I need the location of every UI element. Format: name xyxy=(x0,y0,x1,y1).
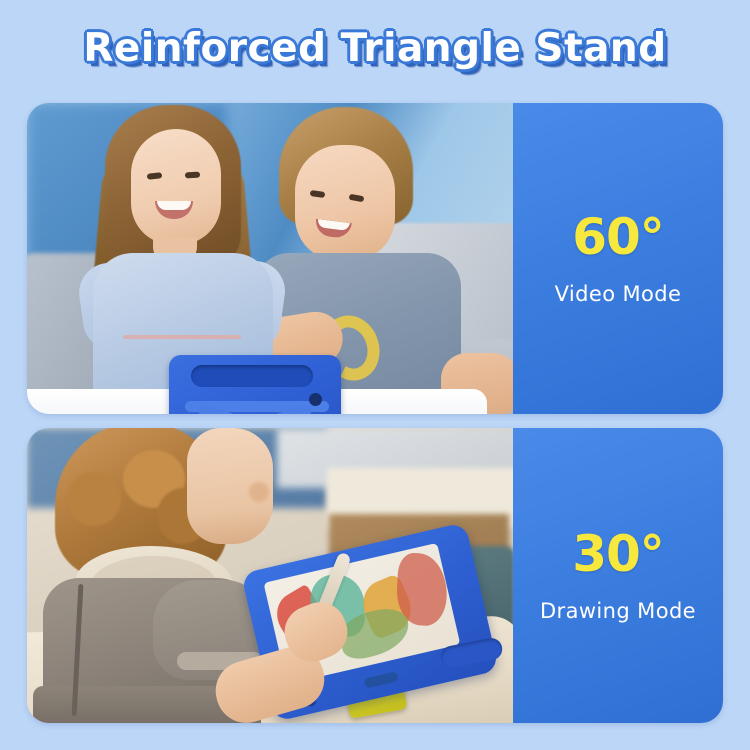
angle-panel-video-mode: 60° Video Mode xyxy=(513,103,723,414)
case-button-cutout xyxy=(364,671,399,688)
girl-dress-trim xyxy=(123,335,241,339)
feature-card-drawing-mode: 30° Drawing Mode xyxy=(27,428,723,723)
blue-tablet-case-back xyxy=(169,355,341,414)
case-carry-handle xyxy=(191,365,313,387)
product-photo-drawing-mode xyxy=(27,428,513,723)
mode-label-video: Video Mode xyxy=(555,282,682,306)
girl-right-eye xyxy=(185,172,200,179)
angle-panel-drawing-mode: 30° Drawing Mode xyxy=(513,428,723,723)
angle-value-60: 60° xyxy=(572,212,664,262)
angle-value-30: 30° xyxy=(572,529,664,579)
case-camera-cutout xyxy=(309,393,322,406)
feature-card-video-mode: 60° Video Mode xyxy=(27,103,723,414)
case-speaker-slot xyxy=(321,413,326,414)
mode-label-drawing: Drawing Mode xyxy=(540,599,696,623)
boy-face xyxy=(295,145,395,261)
child-hair-curl-1 xyxy=(67,472,121,526)
page-title: Reinforced Triangle Stand xyxy=(83,26,666,71)
girl-teeth xyxy=(157,201,191,210)
product-photo-video-mode xyxy=(27,103,513,414)
header: Reinforced Triangle Stand xyxy=(0,0,750,96)
child-cheek xyxy=(249,482,269,502)
girl-face xyxy=(131,129,221,245)
